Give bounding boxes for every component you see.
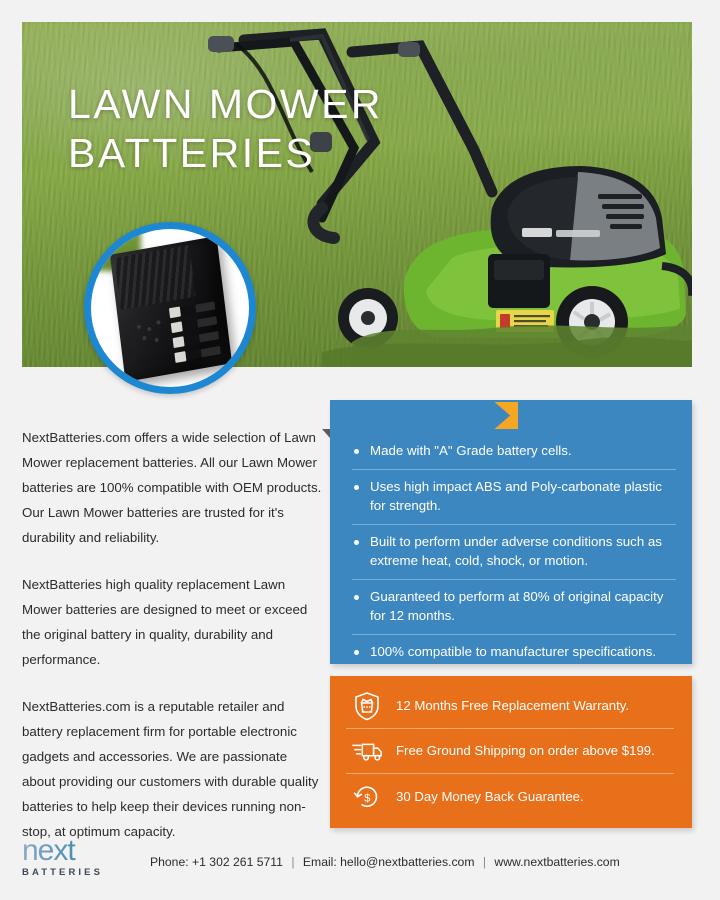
battery-pack-image bbox=[110, 236, 232, 382]
features-list: Made with "A" Grade battery cells. Uses … bbox=[352, 434, 676, 669]
feature-item: 100% compatible to manufacturer specific… bbox=[352, 635, 676, 670]
battery-top-ribs bbox=[114, 245, 195, 310]
phone-text: Phone: +1 302 261 5711 bbox=[150, 855, 283, 869]
features-ribbon-label: FEATURES bbox=[322, 402, 518, 429]
bullet-icon bbox=[354, 540, 359, 545]
guarantee-item-shipping: Free Ground Shipping on order above $199… bbox=[346, 729, 674, 774]
shield-icon bbox=[346, 689, 388, 723]
feature-text: Made with "A" Grade battery cells. bbox=[370, 441, 572, 461]
features-panel: FEATURES Made with "A" Grade battery cel… bbox=[330, 400, 692, 664]
feature-item: Guaranteed to perform at 80% of original… bbox=[352, 580, 676, 635]
contact-line: Phone: +1 302 261 5711 | Email: hello@ne… bbox=[150, 855, 620, 869]
email-text[interactable]: Email: hello@nextbatteries.com bbox=[303, 855, 475, 869]
feature-item: Built to perform under adverse condition… bbox=[352, 525, 676, 580]
logo-wordmark: next bbox=[22, 836, 130, 866]
guarantee-text: 12 Months Free Replacement Warranty. bbox=[396, 697, 629, 715]
website-text[interactable]: www.nextbatteries.com bbox=[494, 855, 619, 869]
body-paragraph-1: NextBatteries.com offers a wide selectio… bbox=[22, 425, 322, 550]
feature-item: Made with "A" Grade battery cells. bbox=[352, 434, 676, 470]
footer: next BATTERIES Phone: +1 302 261 5711 | … bbox=[22, 836, 698, 884]
money-back-icon: $ bbox=[346, 780, 388, 814]
guarantee-panel: 12 Months Free Replacement Warranty. Fre… bbox=[330, 676, 692, 828]
next-batteries-logo: next BATTERIES bbox=[22, 836, 130, 878]
battery-inset-circle bbox=[84, 222, 256, 394]
svg-text:$: $ bbox=[364, 792, 370, 804]
guarantee-item-money-back: $ 30 Day Money Back Guarantee. bbox=[346, 774, 674, 819]
flyer-page: LAWN MOWER BATTERIES NextBatteries.com o… bbox=[0, 0, 720, 900]
bullet-icon bbox=[354, 485, 359, 490]
guarantee-text: Free Ground Shipping on order above $199… bbox=[396, 742, 655, 760]
feature-text: 100% compatible to manufacturer specific… bbox=[370, 642, 656, 662]
feature-text: Uses high impact ABS and Poly-carbonate … bbox=[370, 477, 676, 516]
truck-icon bbox=[346, 734, 388, 768]
body-copy: NextBatteries.com offers a wide selectio… bbox=[22, 425, 322, 844]
logo-subtitle: BATTERIES bbox=[22, 867, 130, 878]
body-paragraph-3: NextBatteries.com is a reputable retaile… bbox=[22, 694, 322, 844]
guarantee-item-warranty: 12 Months Free Replacement Warranty. bbox=[346, 684, 674, 729]
battery-contacts bbox=[169, 300, 227, 363]
separator: | bbox=[478, 855, 491, 869]
battery-label-dots bbox=[135, 318, 172, 354]
guarantee-text: 30 Day Money Back Guarantee. bbox=[396, 788, 584, 806]
feature-text: Built to perform under adverse condition… bbox=[370, 532, 676, 571]
ribbon-fold-shadow bbox=[322, 429, 330, 438]
hero-title: LAWN MOWER BATTERIES bbox=[68, 80, 383, 178]
feature-text: Guaranteed to perform at 80% of original… bbox=[370, 587, 676, 626]
bullet-icon bbox=[354, 595, 359, 600]
bullet-icon bbox=[354, 449, 359, 454]
feature-item: Uses high impact ABS and Poly-carbonate … bbox=[352, 470, 676, 525]
body-paragraph-2: NextBatteries high quality replacement L… bbox=[22, 572, 322, 672]
bullet-icon bbox=[354, 650, 359, 655]
separator: | bbox=[286, 855, 299, 869]
